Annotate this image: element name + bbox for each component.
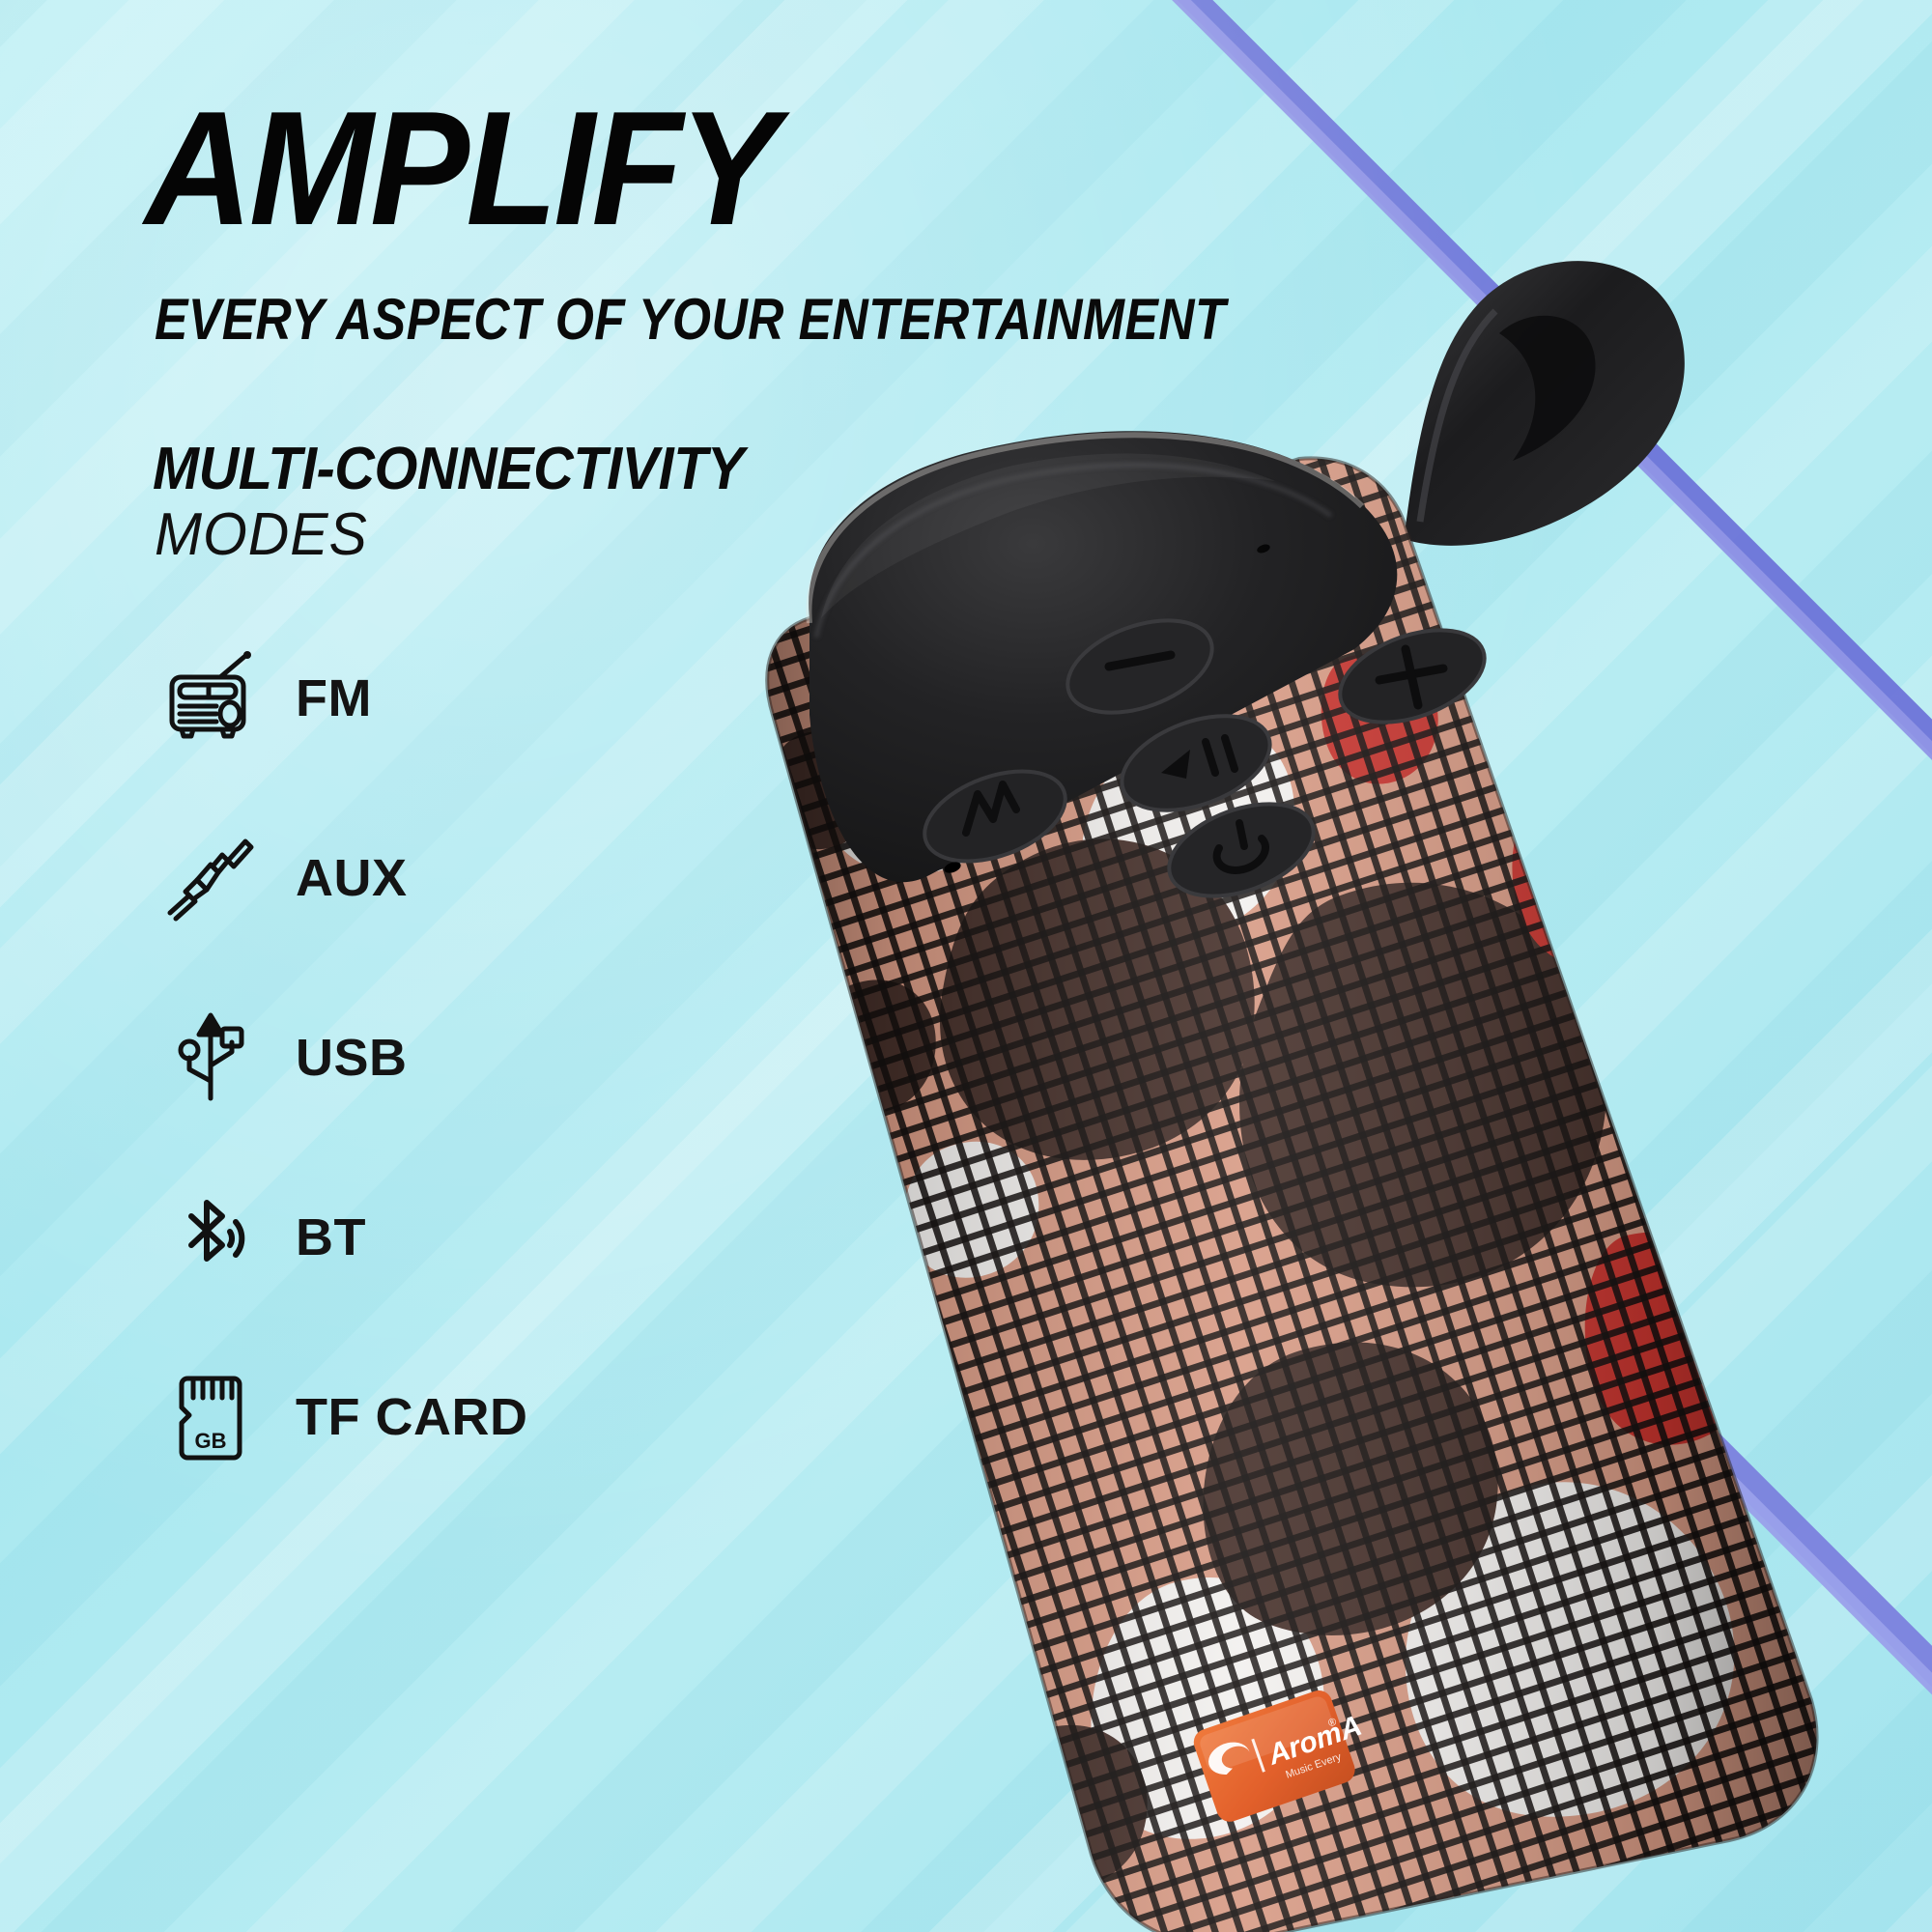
page-title: AMPLIFY [145,89,776,248]
bluetooth-icon [155,1184,270,1291]
feature-label-tf-card: TF CARD [296,1387,527,1447]
feature-item-tf-card: GB TF CARD [155,1327,696,1507]
fm-radio-icon [155,645,270,752]
connectivity-feature-list: FM AUX [155,609,696,1507]
poster-canvas: AromA Music Every ® AMPLIFY EVERY ASPECT… [0,0,1932,1932]
feature-item-fm: FM [155,609,696,788]
usb-icon [155,1005,270,1111]
section-title-line1: MULTI-CONNECTIVITY [153,435,744,503]
feature-item-usb: USB [155,968,696,1148]
svg-text:GB: GB [195,1429,227,1453]
aux-jack-icon [155,825,270,931]
tf-card-icon: GB [155,1364,270,1470]
text-content: AMPLIFY EVERY ASPECT OF YOUR ENTERTAINME… [0,0,1932,1932]
feature-label-fm: FM [296,668,372,728]
feature-item-aux: AUX [155,788,696,968]
feature-label-usb: USB [296,1028,408,1088]
feature-label-aux: AUX [296,848,408,908]
feature-label-bt: BT [296,1207,366,1267]
section-title-line2: MODES [155,500,368,569]
feature-item-bt: BT [155,1148,696,1327]
page-subtitle: EVERY ASPECT OF YOUR ENTERTAINMENT [155,286,1226,353]
